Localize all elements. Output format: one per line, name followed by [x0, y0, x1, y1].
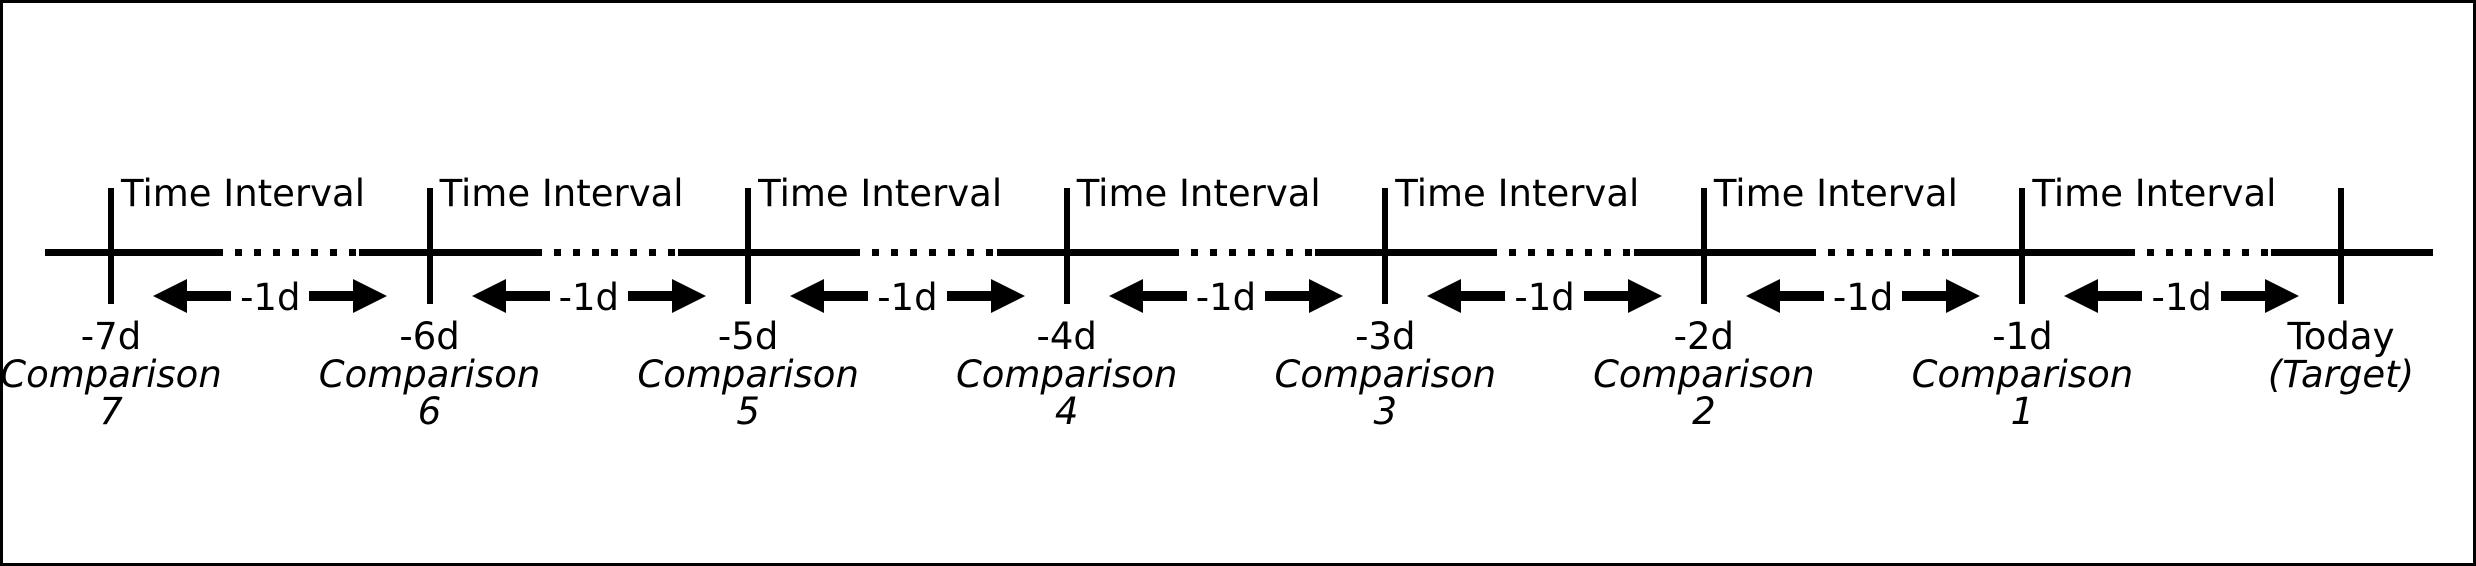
point-index-4: 3: [1205, 393, 1565, 431]
axis-tick-6: [2019, 188, 2025, 304]
arrow-right-icon: [1584, 279, 1662, 313]
point-index-0: 7: [0, 393, 291, 431]
interval-span-4: -1d: [1389, 273, 1700, 319]
point-offset-4: -3d: [1205, 318, 1565, 356]
timeline-diagram-canvas: Time IntervalTime IntervalTime IntervalT…: [0, 0, 2476, 566]
point-role-3: Comparison: [887, 356, 1247, 394]
interval-step-label-0: -1d: [231, 279, 309, 316]
interval-span-6: -1d: [2026, 273, 2337, 319]
axis-tick-2: [745, 188, 751, 304]
axis-dotted-segment: [535, 249, 678, 256]
point-offset-5: -2d: [1524, 318, 1884, 356]
axis-dotted-segment: [853, 249, 996, 256]
interval-label-1: Time Interval: [440, 175, 684, 212]
arrow-left-icon: [153, 279, 231, 313]
point-index-2: 5: [568, 393, 928, 431]
arrow-left-icon: [472, 279, 550, 313]
point-label-1: -6dComparison6: [250, 318, 610, 431]
arrow-right-icon: [1902, 279, 1980, 313]
axis-tick-5: [1701, 188, 1707, 304]
point-index-6: 1: [1842, 393, 2202, 431]
interval-step-label-1: -1d: [550, 279, 628, 316]
arrow-left-icon: [1109, 279, 1187, 313]
interval-step-label-5: -1d: [1824, 279, 1902, 316]
interval-step-label-3: -1d: [1187, 279, 1265, 316]
interval-step-label-4: -1d: [1505, 279, 1583, 316]
arrow-left-icon: [2064, 279, 2142, 313]
interval-label-2: Time Interval: [758, 175, 1002, 212]
interval-step-label-2: -1d: [868, 279, 946, 316]
point-label-2: -5dComparison5: [568, 318, 928, 431]
point-label-6: -1dComparison1: [1842, 318, 2202, 431]
axis-tick-0: [108, 188, 114, 304]
point-offset-6: -1d: [1842, 318, 2202, 356]
arrow-left-icon: [1746, 279, 1824, 313]
axis-dotted-segment: [216, 249, 359, 256]
point-offset-0: -7d: [0, 318, 291, 356]
interval-label-4: Time Interval: [1395, 175, 1639, 212]
point-index-1: 6: [250, 393, 610, 431]
arrow-left-icon: [790, 279, 868, 313]
point-label-3: -4dComparison4: [887, 318, 1247, 431]
interval-label-6: Time Interval: [2032, 175, 2276, 212]
point-role-5: Comparison: [1524, 356, 1884, 394]
interval-label-5: Time Interval: [1714, 175, 1958, 212]
interval-span-1: -1d: [434, 273, 745, 319]
axis-tick-7: [2338, 188, 2344, 304]
interval-label-3: Time Interval: [1077, 175, 1321, 212]
point-role-0: Comparison: [0, 356, 291, 394]
interval-span-3: -1d: [1071, 273, 1382, 319]
axis-tick-1: [427, 188, 433, 304]
axis-dotted-segment: [1172, 249, 1315, 256]
point-offset-1: -6d: [250, 318, 610, 356]
axis-tick-4: [1382, 188, 1388, 304]
point-offset-2: -5d: [568, 318, 928, 356]
point-role-4: Comparison: [1205, 356, 1565, 394]
point-label-5: -2dComparison2: [1524, 318, 1884, 431]
point-role-7: (Target): [2161, 356, 2476, 394]
point-label-4: -3dComparison3: [1205, 318, 1565, 431]
point-label-0: -7dComparison7: [0, 318, 291, 431]
point-offset-3: -4d: [887, 318, 1247, 356]
axis-dotted-segment: [1809, 249, 1952, 256]
arrow-right-icon: [628, 279, 706, 313]
arrow-left-icon: [1427, 279, 1505, 313]
point-offset-7: Today: [2161, 318, 2476, 356]
arrow-right-icon: [1265, 279, 1343, 313]
interval-span-5: -1d: [1708, 273, 2019, 319]
interval-label-0: Time Interval: [121, 175, 365, 212]
axis-dotted-segment: [2128, 249, 2271, 256]
point-role-2: Comparison: [568, 356, 928, 394]
interval-span-0: -1d: [115, 273, 426, 319]
point-index-3: 4: [887, 393, 1247, 431]
point-role-1: Comparison: [250, 356, 610, 394]
arrow-right-icon: [309, 279, 387, 313]
interval-step-label-6: -1d: [2142, 279, 2220, 316]
arrow-right-icon: [2221, 279, 2299, 313]
point-index-5: 2: [1524, 393, 1884, 431]
axis-tick-3: [1064, 188, 1070, 304]
point-role-6: Comparison: [1842, 356, 2202, 394]
axis-dotted-segment: [1490, 249, 1633, 256]
arrow-right-icon: [947, 279, 1025, 313]
point-label-7: Today(Target): [2161, 318, 2476, 393]
interval-span-2: -1d: [752, 273, 1063, 319]
